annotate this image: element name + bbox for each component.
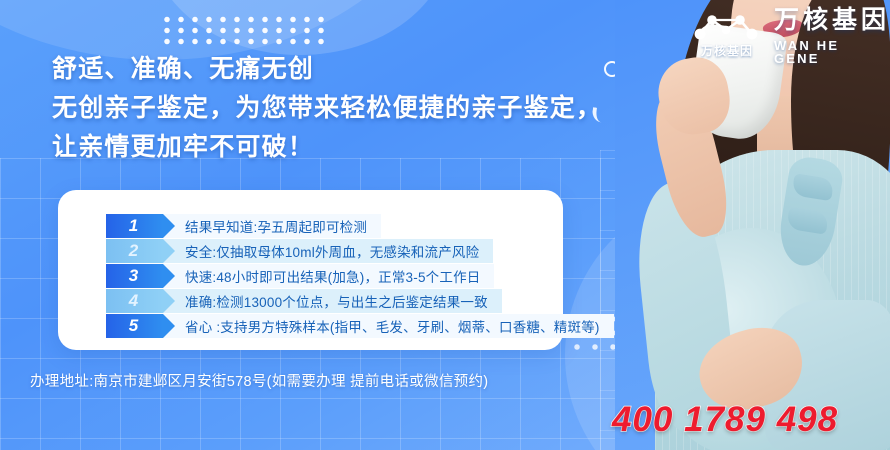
molecule-dna-icon: 万核基因 (690, 12, 762, 62)
list-item: 3 快速:48小时即可出结果(加急)，正常3-5个工作日 (106, 264, 614, 288)
feature-number-badge: 4 (106, 289, 163, 313)
feature-text: 省心 :支持男方特殊样本(指甲、毛发、牙刷、烟蒂、口香糖、精斑等) (163, 314, 614, 338)
pregnant-woman-photo (615, 0, 890, 450)
features-list: 1 结果早知道:孕五周起即可检测 2 安全:仅抽取母体10ml外周血，无感染和流… (106, 214, 614, 339)
feature-number-badge: 2 (106, 239, 163, 263)
brand-logo[interactable]: 万核基因 万核基因 WAN HE GENE (690, 8, 890, 65)
feature-text: 准确:检测13000个位点，与出生之后鉴定结果一致 (163, 289, 502, 313)
feature-number-badge: 1 (106, 214, 163, 238)
feature-text: 结果早知道:孕五周起即可检测 (163, 214, 381, 238)
brand-name-cn: 万核基因 (774, 8, 890, 33)
feature-text: 安全:仅抽取母体10ml外周血，无感染和流产风险 (163, 239, 493, 263)
dot-grid-top (160, 14, 332, 46)
feature-number-badge: 5 (106, 314, 163, 338)
brand-name-en: WAN HE GENE (774, 39, 890, 65)
list-item: 1 结果早知道:孕五周起即可检测 (106, 214, 614, 238)
feature-text: 快速:48小时即可出结果(加急)，正常3-5个工作日 (163, 264, 494, 288)
office-address: 办理地址:南京市建邺区月安街578号(如需要办理 提前电话或微信预约) (30, 370, 488, 391)
list-item: 2 安全:仅抽取母体10ml外周血，无感染和流产风险 (106, 239, 614, 263)
feature-number-badge: 3 (106, 264, 163, 288)
headline-block: 舒适、准确、无痛无创 无创亲子鉴定，为您带来轻松便捷的亲子鉴定， 让亲情更加牢不… (52, 50, 602, 166)
headline-line-1: 舒适、准确、无痛无创 (52, 50, 602, 89)
headline-line-3: 让亲情更加牢不可破！ (52, 128, 602, 167)
promo-banner: 万核基因 万核基因 WAN HE GENE 舒适、准确、无痛无创 无创亲子鉴定，… (0, 0, 890, 450)
list-item: 5 省心 :支持男方特殊样本(指甲、毛发、牙刷、烟蒂、口香糖、精斑等) (106, 314, 614, 338)
headline-line-2: 无创亲子鉴定，为您带来轻松便捷的亲子鉴定， (52, 89, 602, 128)
logo-mark-label: 万核基因 (692, 42, 762, 59)
brand-name-block: 万核基因 WAN HE GENE (774, 8, 890, 65)
list-item: 4 准确:检测13000个位点，与出生之后鉴定结果一致 (106, 289, 614, 313)
hotline-phone-number[interactable]: 400 1789 498 (612, 400, 838, 440)
